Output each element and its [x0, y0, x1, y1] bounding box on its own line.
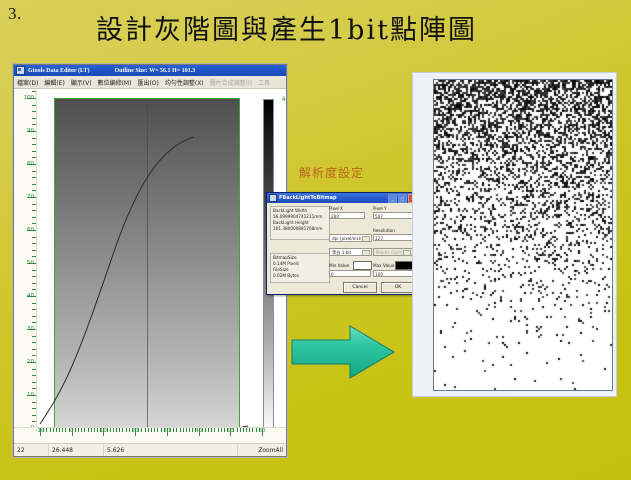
status-cell-1: 22 — [14, 444, 49, 456]
app-icon — [16, 66, 25, 75]
pixel-x-label: Pixel X — [329, 206, 343, 211]
backlight-to-bitmap-dialog: FBackLightToBitmap _ □ × BackLight Width… — [266, 192, 420, 295]
optimum-select: Middle Optimum — [373, 248, 413, 256]
page-title: 設計灰階圖與產生1bit點陣圖 — [96, 8, 566, 47]
annotation-resolution-setting: 解析度設定 — [299, 164, 364, 181]
min-value-label: Min Value — [329, 263, 349, 268]
status-zoom-mode[interactable]: ZoomAll — [238, 444, 286, 456]
dithered-bitmap-image[interactable] — [433, 79, 613, 391]
minimize-icon[interactable]: _ — [388, 194, 397, 203]
resolution-label: Resolution — [373, 228, 395, 233]
dialog-title-bar: FBackLightToBitmap _ □ × — [267, 193, 419, 203]
dither-canvas — [434, 80, 612, 390]
pixel-y-input[interactable]: 507 — [373, 212, 413, 219]
slide-number: 3. — [8, 4, 22, 24]
bitmap-preview-panel — [412, 72, 617, 397]
menu-item-file[interactable]: 檔案(D) — [17, 78, 38, 87]
menu-item-view[interactable]: 顯示(V) — [71, 78, 92, 87]
editor-canvas[interactable]: 1009080706050403020100 46.6 0 -100102030… — [14, 89, 286, 443]
maximize-icon[interactable]: □ — [398, 194, 407, 203]
max-value-label: Max Value — [373, 263, 395, 268]
ok-button[interactable]: OK — [381, 282, 415, 293]
menu-item-uniformity[interactable]: 均勻性調整(X) — [165, 78, 204, 87]
horizontal-ruler: -100102030405060 — [14, 427, 286, 443]
menu-bar[interactable]: 檔案(D) 編輯(E) 顯示(V) 數位編修(M) 匯出(O) 均勻性調整(X)… — [14, 76, 286, 89]
pixel-y-label: Pixel Y — [373, 206, 387, 211]
grayscale-gradient-image[interactable] — [54, 98, 240, 430]
window-title: Gtools Data Editor (LT) — [28, 68, 90, 74]
menu-item-digital-retouch[interactable]: 數位編修(M) — [98, 78, 132, 87]
dialog-title: FBackLightToBitmap — [279, 195, 386, 201]
center-guide-line — [147, 99, 148, 429]
bitmap-size-info: BitmapSize 0.14M Pixels FileSize 0.02M B… — [270, 253, 330, 283]
colorbar-max-label: 46.6 — [282, 96, 286, 103]
status-cell-3: 5.626 — [104, 444, 238, 456]
color-depth-select[interactable]: 黑白 1 bit — [329, 248, 372, 256]
cancel-button[interactable]: Cancel — [343, 282, 377, 293]
gtools-editor-window: Gtools Data Editor (LT) Outline Size: W=… — [13, 64, 287, 457]
dialog-icon — [269, 194, 277, 202]
outline-size-text: Outline Size: W= 56.1 H= 101.3 — [115, 68, 196, 74]
backlight-dimensions-info: BackLight Width 56.0999904741211mm BackL… — [270, 206, 330, 240]
min-value-color-swatch[interactable] — [353, 261, 372, 270]
unit-select[interactable]: dpi (pixel/inch) — [329, 234, 372, 242]
pixel-x-input[interactable]: 280 — [329, 212, 365, 219]
menu-item-image-compose: 圖片合成調整(I) — [210, 78, 252, 87]
status-cell-2: 26.448 — [49, 444, 104, 456]
max-value-input[interactable]: 100 — [373, 270, 415, 277]
min-value-input[interactable]: 0 — [329, 270, 371, 277]
window-title-bar: Gtools Data Editor (LT) Outline Size: W=… — [14, 65, 286, 76]
resolution-input[interactable]: 127 — [373, 234, 413, 241]
vertical-ruler: 1009080706050403020100 — [14, 90, 37, 443]
status-bar: 22 26.448 5.626 ZoomAll — [14, 443, 286, 456]
menu-item-tools: 工具 — [258, 78, 270, 87]
process-arrow — [288, 322, 398, 382]
dialog-body: BackLight Width 56.0999904741211mm BackL… — [267, 203, 419, 294]
menu-item-export[interactable]: 匯出(O) — [137, 78, 158, 87]
menu-item-edit[interactable]: 編輯(E) — [44, 78, 64, 87]
